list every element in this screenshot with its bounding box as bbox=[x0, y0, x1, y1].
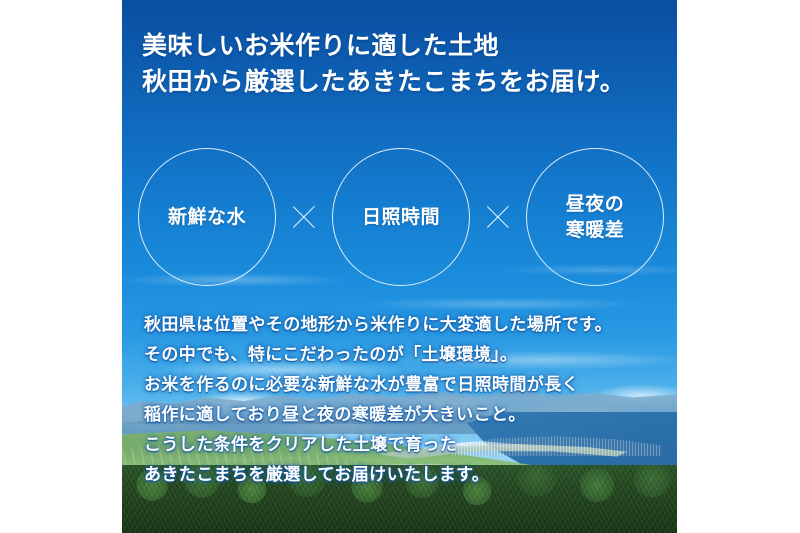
body-copy-line-6: あきたこまちを厳選してお届けいたします。 bbox=[144, 460, 664, 490]
multiply-icon-2 bbox=[483, 202, 513, 232]
factor-circle-fresh-water: 新鮮な水 bbox=[138, 148, 276, 286]
factor-label-sunshine-hours: 日照時間 bbox=[362, 204, 440, 230]
page-root: 美味しいお米作りに適した土地 秋田から厳選したあきたこまちをお届け。 新鮮な水 … bbox=[0, 0, 800, 533]
factor-label-temperature-range: 昼夜の 寒暖差 bbox=[566, 191, 625, 243]
factor-circle-sunshine-hours: 日照時間 bbox=[332, 148, 470, 286]
body-copy-line-4: 稲作に適しており昼と夜の寒暖差が大きいこと。 bbox=[144, 400, 664, 430]
body-copy-line-5: こうした条件をクリアした土壌で育った bbox=[144, 430, 664, 460]
body-copy-line-3: お米を作るのに必要な新鮮な水が豊富で日照時間が長く bbox=[144, 370, 664, 400]
factor-circle-temperature-range: 昼夜の 寒暖差 bbox=[526, 148, 664, 286]
body-copy-line-1: 秋田県は位置やその地形から米作りに大変適した場所です。 bbox=[144, 310, 664, 340]
headline-line-1: 美味しいお米作りに適した土地 bbox=[142, 28, 662, 64]
multiply-icon-1 bbox=[289, 202, 319, 232]
factor-label-fresh-water: 新鮮な水 bbox=[168, 204, 246, 230]
factor-circle-row: 新鮮な水 日照時間 昼夜の 寒暖差 bbox=[138, 146, 664, 288]
body-copy-block: 秋田県は位置やその地形から米作りに大変適した場所です。 その中でも、特にこだわっ… bbox=[144, 310, 664, 490]
headline-line-2: 秋田から厳選したあきたこまちをお届け。 bbox=[142, 64, 662, 100]
body-copy-line-2: その中でも、特にこだわったのが「土壌環境」。 bbox=[144, 340, 664, 370]
promo-banner: 美味しいお米作りに適した土地 秋田から厳選したあきたこまちをお届け。 新鮮な水 … bbox=[122, 0, 677, 533]
headline-block: 美味しいお米作りに適した土地 秋田から厳選したあきたこまちをお届け。 bbox=[142, 28, 662, 100]
